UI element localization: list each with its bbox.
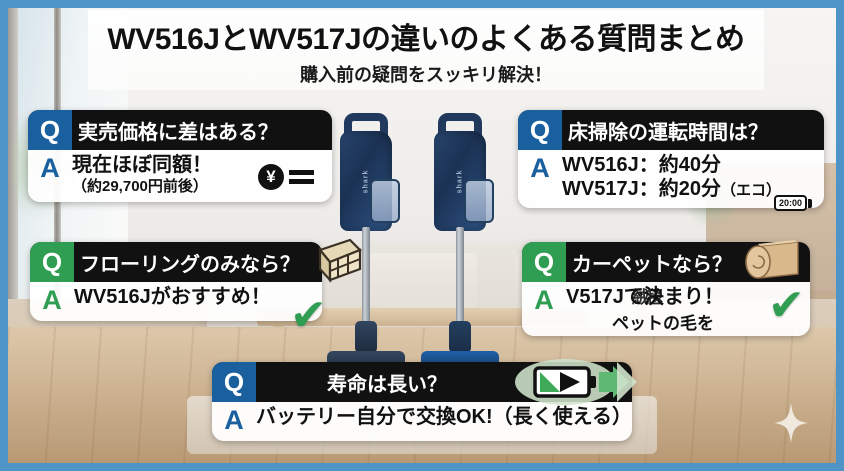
answer-text: WV516Jがおすすめ！ [74,286,314,310]
qa-card-flooring: Q フローリングのみなら？ A WV516Jがおすすめ！ [30,242,322,321]
page-title: WV516JとWV517Jの違いのよくある質問まとめ [107,14,744,58]
brand-label: shark [363,170,370,194]
answer-line-2: WV517J：約20分 [562,178,721,200]
answer-line-2-note: （エコ） [721,182,781,199]
checkmark-icon: ✔ [768,284,805,328]
question-row: Q 実売価格に差はある？ [28,110,332,150]
answer-row: A 現在ほぼ同額！ （約29,700円前後） ¥ [28,150,332,202]
battery-time-label: 20:00 [774,195,807,211]
vacuum-neck [449,321,471,353]
page-subtitle: 購入前の疑問をスッキリ解決！ [300,61,552,87]
question-text: 床掃除の運転時間は？ [562,110,824,150]
vacuum-neck [355,321,377,353]
sparkle-icon [774,403,808,443]
a-badge: A [522,286,566,314]
carpet-roll-icon [742,234,804,286]
q-badge: Q [212,362,256,402]
battery-swap-icon [513,358,641,406]
qa-card-runtime: Q 床掃除の運転時間は？ A WV516J：約40分 WV517J：約20分（エ… [518,110,824,208]
answer-line-2: ペットの毛を [612,314,714,334]
a-badge: A [28,154,72,182]
question-text: 実売価格に差はある？ [72,110,332,150]
infographic-canvas: shark shark WV516JとWV517Jの違いのよくある質問まとめ 購… [0,0,844,471]
answer-text: V517Jで決まり！ 絨毯 ペットの毛を [566,286,802,310]
equals-icon [289,168,314,186]
vacuum-dustbin [464,179,494,223]
answer-line-1: WV516J：約40分 [562,154,816,178]
flooring-icon [316,236,364,286]
checkmark-icon: ✔ [290,294,327,338]
vacuum-dustbin [370,179,400,223]
q-badge: Q [518,110,562,150]
answer-row: A V517Jで決まり！ 絨毯 ペットの毛を [522,282,810,336]
a-badge: A [30,286,74,314]
yen-icon: ¥ [258,164,284,190]
qa-card-price: Q 実売価格に差はある？ A 現在ほぼ同額！ （約29,700円前後） ¥ [28,110,332,202]
q-badge: Q [28,110,72,150]
answer-row: A バッテリー自分で交換OK!（長く使える） [212,402,632,441]
price-equal-icons: ¥ [258,164,314,190]
answer-row: A WV516Jがおすすめ！ [30,282,322,321]
title-banner: WV516JとWV517Jの違いのよくある質問まとめ 購入前の疑問をスッキリ解決… [88,10,764,90]
q-badge: Q [30,242,74,282]
a-badge: A [518,154,562,182]
battery-tip [808,199,812,208]
brand-label: shark [457,170,464,194]
a-badge: A [212,406,256,434]
battery-icon: 20:00 [774,195,812,211]
answer-overlap-text: 絨毯 [632,288,660,308]
answer-row: A WV516J：約40分 WV517J：約20分（エコ） 20:00 [518,150,824,208]
question-row: Q 床掃除の運転時間は？ [518,110,824,150]
question-text: フローリングのみなら？ [74,242,322,282]
q-badge: Q [522,242,566,282]
answer-text: バッテリー自分で交換OK!（長く使える） [256,406,624,430]
question-row: Q フローリングのみなら？ [30,242,322,282]
